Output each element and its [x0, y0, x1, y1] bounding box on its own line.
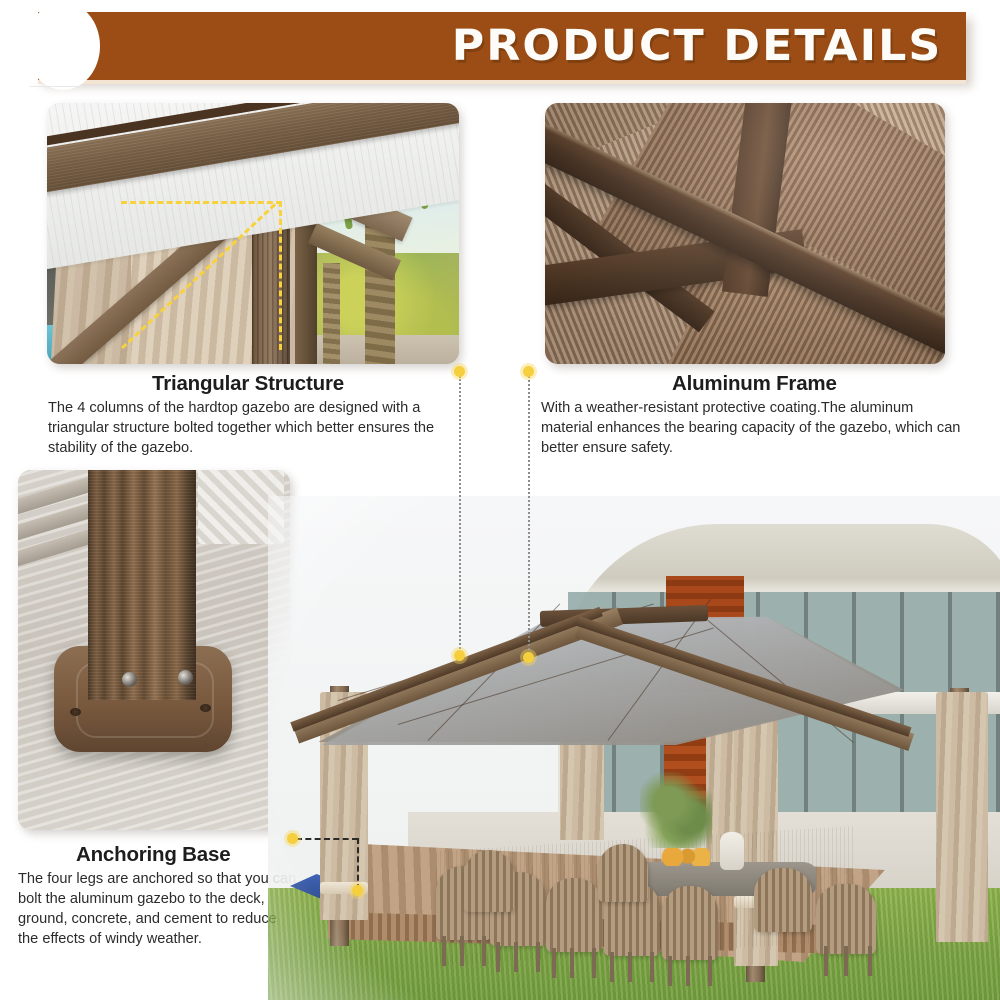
- dining-chair: [546, 878, 602, 952]
- caption-title-anchoring-base: Anchoring Base: [76, 843, 230, 867]
- photo-aluminum-frame: [545, 103, 945, 364]
- palm-trunk-far-icon: [323, 263, 340, 364]
- caption-body-aluminum-frame: With a weather-resistant protective coat…: [541, 398, 961, 458]
- caption-body-anchoring-base: The four legs are anchored so that you c…: [18, 869, 298, 949]
- connector-line-anchoring-base-horizontal: [296, 838, 358, 840]
- chair-legs: [606, 952, 662, 982]
- connector-dot-left-anchoring-base: [287, 833, 298, 844]
- chair-legs: [492, 942, 548, 972]
- photo-triangular-structure: [47, 103, 459, 364]
- base-plate-bolt-hole-left: [70, 708, 81, 716]
- photo-vignette: [545, 103, 945, 364]
- connector-dot-bottom-aluminum-frame: [523, 652, 534, 663]
- curtain-far-right: [936, 692, 988, 942]
- connector-dot-top-aluminum-frame: [523, 366, 534, 377]
- dining-chair: [598, 844, 648, 902]
- connector-line-triangular-structure: [459, 376, 461, 656]
- connector-line-anchoring-base-vertical: [357, 838, 359, 890]
- dining-chair: [754, 868, 812, 932]
- banner-underline: [38, 80, 966, 84]
- dining-chair: [662, 886, 718, 960]
- header-banner: PRODUCT DETAILS: [0, 12, 1000, 88]
- connector-dot-top-triangular-structure: [454, 366, 465, 377]
- gazebo-roof: [278, 550, 918, 730]
- potted-plant: [640, 772, 712, 848]
- header-divider: [30, 86, 970, 87]
- photo-anchoring-base: [18, 470, 290, 830]
- chair-legs: [438, 936, 494, 966]
- dining-chair: [464, 850, 514, 912]
- banner-notch-circle: [26, 2, 100, 90]
- product-details-infographic: PRODUCT DETAILS: [0, 0, 1000, 1000]
- base-plate-bolt-hole-right: [200, 704, 211, 712]
- fruit-bowl: [660, 848, 710, 866]
- chair-legs: [820, 946, 876, 976]
- anchor-screw-right: [178, 670, 193, 685]
- gazebo-leg-column: [88, 470, 196, 700]
- chair-legs: [664, 956, 720, 986]
- caption-body-triangular-structure: The 4 columns of the hardtop gazebo are …: [48, 398, 468, 458]
- dining-chair: [816, 884, 876, 954]
- caption-title-triangular-structure: Triangular Structure: [152, 372, 344, 396]
- connector-dot-bottom-triangular-structure: [454, 650, 465, 661]
- anchor-screw-left: [122, 672, 137, 687]
- connector-dot-bottom-anchoring-base: [352, 885, 363, 896]
- hero-gazebo-scene: [268, 496, 1000, 1000]
- page-title: PRODUCT DETAILS: [451, 15, 942, 77]
- chair-legs: [548, 948, 604, 978]
- connector-line-aluminum-frame: [528, 376, 530, 658]
- caption-title-aluminum-frame: Aluminum Frame: [672, 372, 837, 396]
- column-grain-texture: [88, 470, 196, 700]
- table-vase: [720, 832, 744, 870]
